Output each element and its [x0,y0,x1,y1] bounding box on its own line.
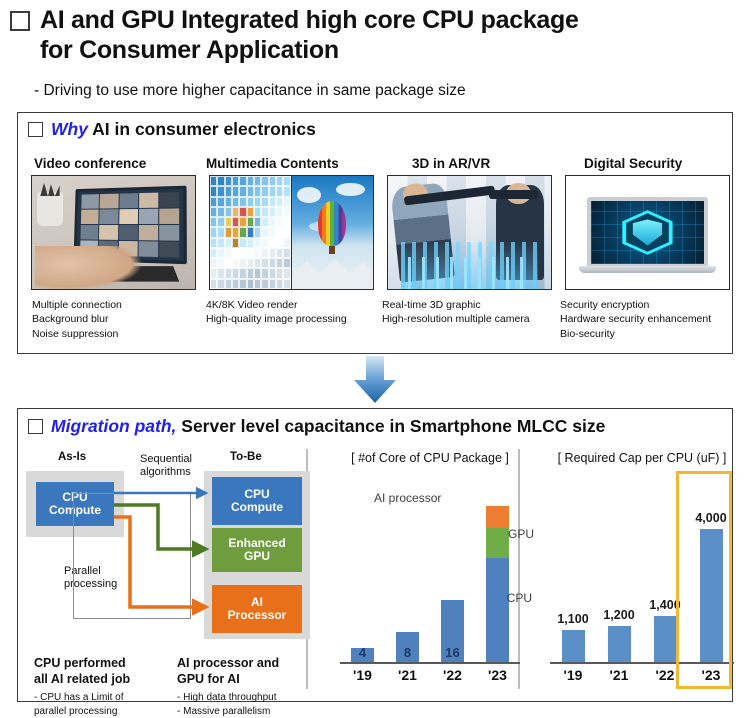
why-ai-heading-emphasis: Why [51,119,88,139]
chart-required-cap-title: [ Required Cap per CPU (uF) ] [540,451,744,465]
multimedia-contents-photo [209,175,374,290]
legend-cpu: CPU [507,591,532,605]
page-title: AI and GPU Integrated high core CPU pack… [40,6,579,65]
diagram-arrows [26,451,314,651]
ar-vr-photo [387,175,552,290]
page-title-line1: AI and GPU Integrated high core CPU pack… [40,6,579,36]
thumbnail-title-video-conference: Video conference [18,156,196,171]
bar-22: 16 [436,479,470,662]
chart-core-count-plot: 4 8 16 AI processor GPU CPU [330,479,530,664]
bar-19: 1,100 [556,479,590,662]
highlight-box-23 [676,471,732,689]
thumbnail-images-row [18,175,732,290]
bar-23-stacked [481,479,515,662]
footnote-as-is: CPU performed all AI related job - CPU h… [34,656,177,718]
page-title-line2: for Consumer Application [40,36,579,66]
captions-3d-ar-vr: Real-time 3D graphic High-resolution mul… [374,298,552,341]
page-subtitle: - Driving to use more higher capacitance… [34,82,466,100]
thumbnail-title-multimedia-contents: Multimedia Contents [196,156,374,171]
migration-path-panel: Migration path, Server level capacitance… [17,408,733,702]
captions-digital-security: Security encryption Hardware security en… [552,298,732,341]
down-arrow-icon [352,356,398,404]
section-square-bullet-icon [28,419,43,434]
bar-21: 1,200 [602,479,636,662]
title-square-bullet-icon [10,11,30,31]
why-ai-panel: Why AI in consumer electronics Video con… [17,112,733,354]
page-title-block: AI and GPU Integrated high core CPU pack… [10,6,740,65]
digital-security-photo [565,175,730,290]
diagram-footnotes: CPU performed all AI related job - CPU h… [34,656,320,718]
thumbnail-titles-row: Video conference Multimedia Contents 3D … [18,156,732,171]
bar-19: 4 [346,479,380,662]
thumbnail-title-digital-security: Digital Security [552,156,732,171]
migration-heading-emphasis: Migration path, [51,416,176,436]
chart-required-cap: [ Required Cap per CPU (uF) ] 1,100 1,20… [540,451,744,701]
chart-core-count-xaxis: '19 '21 '22 '23 [340,667,520,683]
migration-heading-rest: Server level capacitance in Smartphone M… [181,416,605,436]
chart-core-count: [ #of Core of CPU Package ] 4 8 16 [330,451,530,701]
migration-path-heading: Migration path, Server level capacitance… [18,409,732,437]
bar-21: 8 [391,479,425,662]
footnote-to-be: AI processor and GPU for AI - High data … [177,656,320,718]
captions-multimedia-contents: 4K/8K Video render High-quality image pr… [196,298,374,341]
chart-core-count-title: [ #of Core of CPU Package ] [330,451,530,465]
legend-ai-processor: AI processor [374,491,441,505]
legend-gpu: GPU [508,527,534,541]
chart-required-cap-xaxis: '19 '21 '22 '23 [550,667,734,683]
thumbnail-captions-row: Multiple connection Background blur Nois… [18,298,732,341]
section-square-bullet-icon [28,122,43,137]
why-ai-heading-rest: AI in consumer electronics [92,119,316,139]
video-conference-photo [31,175,196,290]
thumbnail-title-3d-ar-vr: 3D in AR/VR [374,156,552,171]
why-ai-heading: Why AI in consumer electronics [18,113,732,140]
as-is-to-be-diagram: As-Is To-Be Sequential algorithms Parall… [26,451,314,701]
captions-video-conference: Multiple connection Background blur Nois… [18,298,196,341]
